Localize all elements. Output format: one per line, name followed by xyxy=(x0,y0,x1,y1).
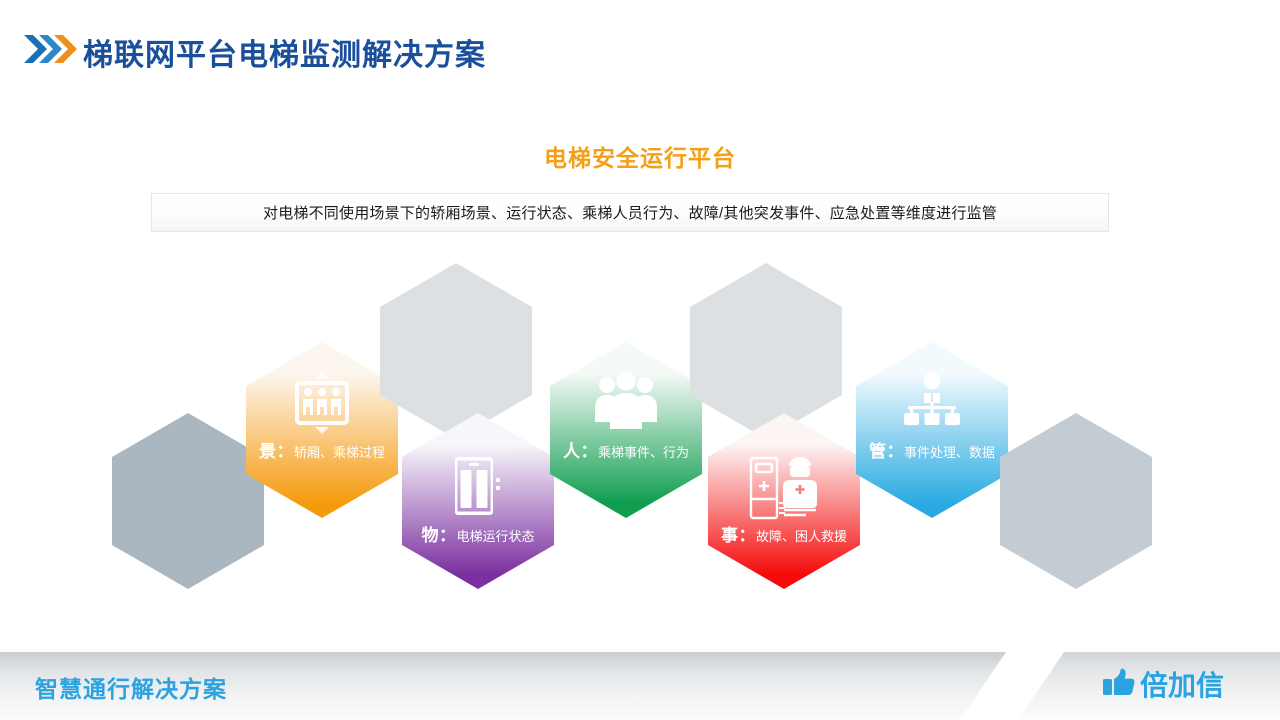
hex-filler-filler-right xyxy=(1000,413,1152,589)
rescue-stretcher-medic-icon xyxy=(708,455,860,521)
group-of-people-icon xyxy=(550,372,702,430)
hex-key-management: 管 xyxy=(869,442,887,461)
footer-left-panel: 智慧通行解决方案 xyxy=(0,652,1006,720)
hex-label-event: 事：故障、困人救援 xyxy=(714,526,854,546)
elevator-car-with-people-icon xyxy=(246,372,398,434)
hex-category-people[interactable]: 人：乘梯事件、行为 xyxy=(550,342,702,518)
page-title: 梯联网平台电梯监测解决方案 xyxy=(83,30,486,74)
hex-label-thing: 物：电梯运行状态 xyxy=(408,526,548,546)
brand-logo: 倍加信 xyxy=(1102,664,1224,704)
brand-name: 倍加信 xyxy=(1140,664,1224,704)
hex-value-event: 故障、困人救援 xyxy=(756,529,847,544)
hex-label-people: 人：乘梯事件、行为 xyxy=(556,442,696,462)
footer-right-panel: 倍加信 xyxy=(1018,652,1280,720)
double-chevron-right-icon xyxy=(22,32,78,66)
hex-key-scene: 景 xyxy=(259,442,277,461)
description-banner: 对电梯不同使用场景下的轿厢场景、运行状态、乘梯人员行为、故障/其他突发事件、应急… xyxy=(151,193,1109,232)
hex-filler-filler-upper-2 xyxy=(690,263,842,439)
elevator-doors-icon xyxy=(402,455,554,517)
hex-category-scene[interactable]: 景：轿厢、乘梯过程 xyxy=(246,342,398,518)
platform-title: 电梯安全运行平台 xyxy=(0,139,1280,173)
org-chart-icon xyxy=(856,372,1008,428)
hex-category-thing[interactable]: 物：电梯运行状态 xyxy=(402,413,554,589)
hex-value-people: 乘梯事件、行为 xyxy=(598,445,689,460)
hex-label-scene: 景：轿厢、乘梯过程 xyxy=(252,442,392,462)
honeycomb-diagram: 景：轿厢、乘梯过程 物：电梯运行状态 人：乘梯事件、行为 xyxy=(0,250,1280,580)
hex-value-scene: 轿厢、乘梯过程 xyxy=(294,445,385,460)
hex-filler-filler-left xyxy=(112,413,264,589)
description-text: 对电梯不同使用场景下的轿厢场景、运行状态、乘梯人员行为、故障/其他突发事件、应急… xyxy=(263,202,997,223)
hex-key-thing: 物 xyxy=(421,526,439,545)
slide-footer: 智慧通行解决方案 倍加信 xyxy=(0,652,1280,720)
hex-category-event[interactable]: 事：故障、困人救援 xyxy=(708,413,860,589)
hex-value-thing: 电梯运行状态 xyxy=(456,529,534,544)
slide-header: 梯联网平台电梯监测解决方案 xyxy=(0,0,1280,96)
hex-value-management: 事件处理、数据 xyxy=(904,445,995,460)
hex-category-management[interactable]: 管：事件处理、数据 xyxy=(856,342,1008,518)
hex-key-people: 人 xyxy=(563,442,581,461)
thumbs-up-icon xyxy=(1102,667,1136,702)
hex-key-event: 事 xyxy=(721,526,739,545)
footer-solution-label: 智慧通行解决方案 xyxy=(35,670,227,704)
hex-label-management: 管：事件处理、数据 xyxy=(862,442,1002,462)
hex-filler-filler-upper-1 xyxy=(380,263,532,439)
slide-canvas: 梯联网平台电梯监测解决方案 电梯安全运行平台 对电梯不同使用场景下的轿厢场景、运… xyxy=(0,0,1280,720)
